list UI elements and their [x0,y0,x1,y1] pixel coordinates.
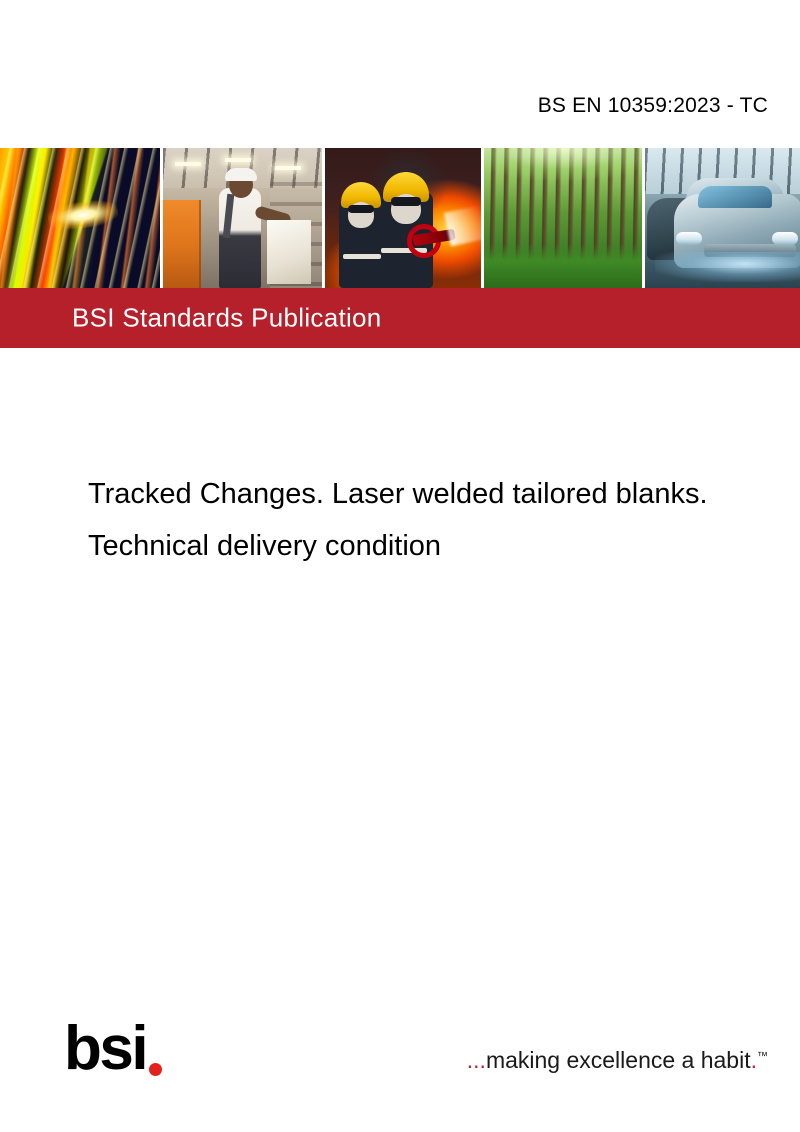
warehouse-worker-photo [163,148,322,288]
tagline-text: making excellence a habit [486,1047,751,1073]
standard-number: BS EN 10359:2023 - TC [538,94,768,118]
bsi-logo: bsi [64,1018,162,1080]
firefighter-visor [391,197,421,206]
worker-cap [225,168,257,181]
car-headlamp [772,232,798,245]
traffic-light-trails-photo [0,148,160,288]
orange-crate [163,200,201,288]
page-title: Tracked Changes. Laser welded tailored b… [88,468,728,572]
tagline-ellipsis: ... [467,1047,486,1073]
ceiling-lamp-icon [275,166,301,170]
water-spray [444,204,481,246]
firefighters-photo [325,148,481,288]
forest-canopy-light [484,148,642,182]
cardboard-box [267,220,311,284]
trademark-icon: ™ [757,1050,768,1062]
assembly-floor-glow [655,252,800,282]
car-windshield [698,186,772,208]
car-production-line-photo [645,148,800,288]
bsi-logo-text: bsi [64,1018,146,1080]
ceiling-lamp-icon [175,162,201,166]
bsi-logo-dot-icon [149,1063,162,1076]
firefighter-visor [348,205,374,213]
hi-vis-stripe [343,254,381,259]
car-headlamp [676,232,702,245]
forest-photo [484,148,642,288]
bsi-standards-banner: BSI Standards Publication [0,288,800,348]
cover-photo-strip [0,148,800,288]
ceiling-lamp-icon [225,158,251,162]
bsi-tagline: ...making excellence a habit.™ [467,1049,768,1072]
banner-label: BSI Standards Publication [72,303,382,334]
